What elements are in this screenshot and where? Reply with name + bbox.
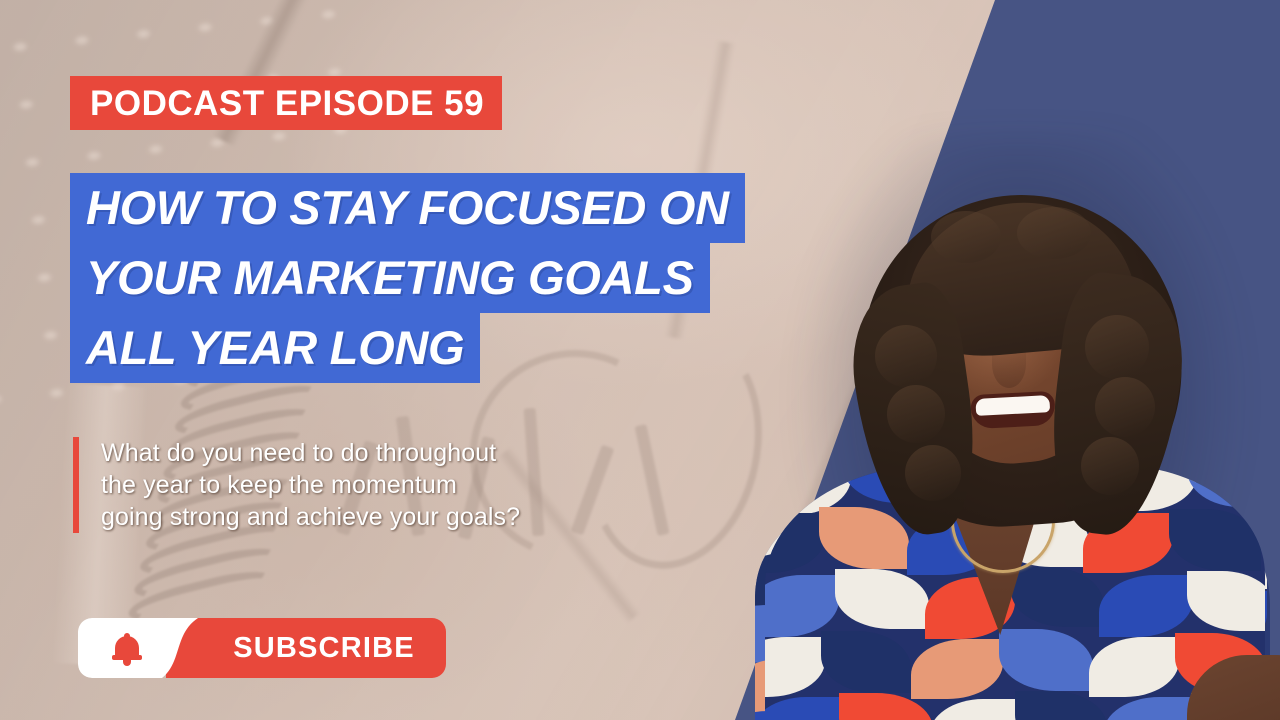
page-title: HOW TO STAY FOCUSED ON YOUR MARKETING GO… bbox=[70, 173, 745, 383]
portrait-hair-curl-3 bbox=[905, 445, 961, 501]
headline-line-1: HOW TO STAY FOCUSED ON bbox=[70, 173, 745, 243]
host-portrait bbox=[755, 115, 1280, 720]
episode-badge-label: PODCAST EPISODE 59 bbox=[90, 86, 484, 121]
subscribe-label: SUBSCRIBE bbox=[233, 632, 415, 665]
portrait-smile bbox=[970, 391, 1056, 429]
portrait-hair-curl-5 bbox=[1095, 377, 1155, 437]
subtitle-text: What do you need to do throughout the ye… bbox=[101, 437, 520, 533]
subtitle-line-1: What do you need to do throughout bbox=[101, 437, 520, 469]
portrait-hair-curl-4 bbox=[1085, 315, 1149, 379]
bell-icon-clapper bbox=[123, 659, 131, 666]
portrait-hair-curl-2 bbox=[887, 385, 945, 443]
headline-line-3: ALL YEAR LONG bbox=[70, 313, 480, 383]
portrait-hair-curl-7 bbox=[931, 211, 1001, 263]
subscribe-button[interactable]: SUBSCRIBE bbox=[78, 618, 446, 678]
bell-icon[interactable] bbox=[112, 633, 142, 665]
portrait-hair-curl-6 bbox=[1081, 437, 1139, 495]
subscribe-pill[interactable]: SUBSCRIBE bbox=[166, 618, 446, 678]
subtitle-block: What do you need to do throughout the ye… bbox=[73, 437, 520, 533]
portrait-teeth bbox=[975, 395, 1050, 416]
episode-badge: PODCAST EPISODE 59 bbox=[70, 76, 502, 130]
portrait-hair-curl-1 bbox=[875, 325, 937, 387]
subtitle-line-2: the year to keep the momentum bbox=[101, 469, 520, 501]
thumbnail-canvas: PODCAST EPISODE 59 HOW TO STAY FOCUSED O… bbox=[0, 0, 1280, 720]
portrait-hair-curl-8 bbox=[1017, 207, 1091, 259]
subtitle-line-3: going strong and achieve your goals? bbox=[101, 501, 520, 533]
headline-line-2: YOUR MARKETING GOALS bbox=[70, 243, 710, 313]
subtitle-accent-bar bbox=[73, 437, 79, 533]
